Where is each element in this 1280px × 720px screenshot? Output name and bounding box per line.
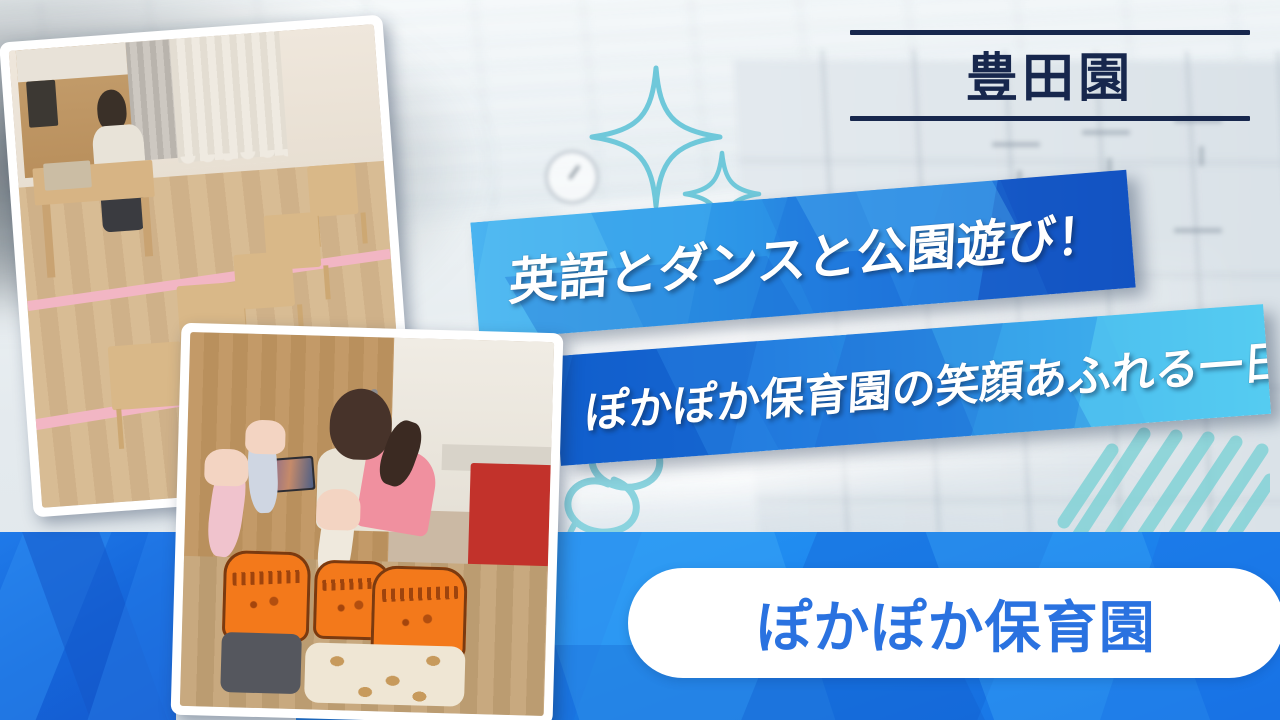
classroom-shelf-box bbox=[26, 80, 59, 128]
photo-kids-orange-bibs bbox=[171, 323, 564, 720]
red-cabinet bbox=[468, 463, 551, 577]
header-rule-top bbox=[850, 30, 1250, 35]
classroom-curtain bbox=[169, 31, 288, 162]
locker-tick bbox=[1199, 146, 1204, 166]
brand-pill-label: ぽかぽか保育園 bbox=[756, 583, 1156, 664]
thumbnail-canvas: 豊田園 英語とダンスと公園遊び！ ぽかぽか保育園の笑顔あふれる一日 bbox=[0, 0, 1280, 720]
photo-kids-image bbox=[180, 332, 554, 716]
locker-label bbox=[1174, 228, 1222, 233]
bibs-scene bbox=[180, 332, 554, 716]
child-legs bbox=[220, 632, 302, 694]
childrens-chair bbox=[108, 341, 186, 410]
child-pants bbox=[304, 642, 466, 706]
table-item bbox=[43, 160, 92, 191]
header-rule-bottom bbox=[850, 116, 1250, 121]
child-hand bbox=[245, 420, 286, 455]
child-hand bbox=[316, 489, 361, 531]
child-hand bbox=[204, 448, 249, 487]
child-bib bbox=[222, 550, 312, 642]
brand-pill[interactable]: ぽかぽか保育園 bbox=[628, 568, 1280, 678]
bib-text bbox=[232, 569, 302, 584]
footer-corner-block bbox=[0, 532, 176, 720]
page-title: 豊田園 bbox=[850, 50, 1250, 108]
bib-text bbox=[382, 586, 458, 602]
locker-label bbox=[992, 142, 1040, 147]
header-block: 豊田園 bbox=[850, 22, 1250, 132]
childrens-chair bbox=[307, 163, 358, 217]
wall-clock bbox=[545, 150, 599, 204]
